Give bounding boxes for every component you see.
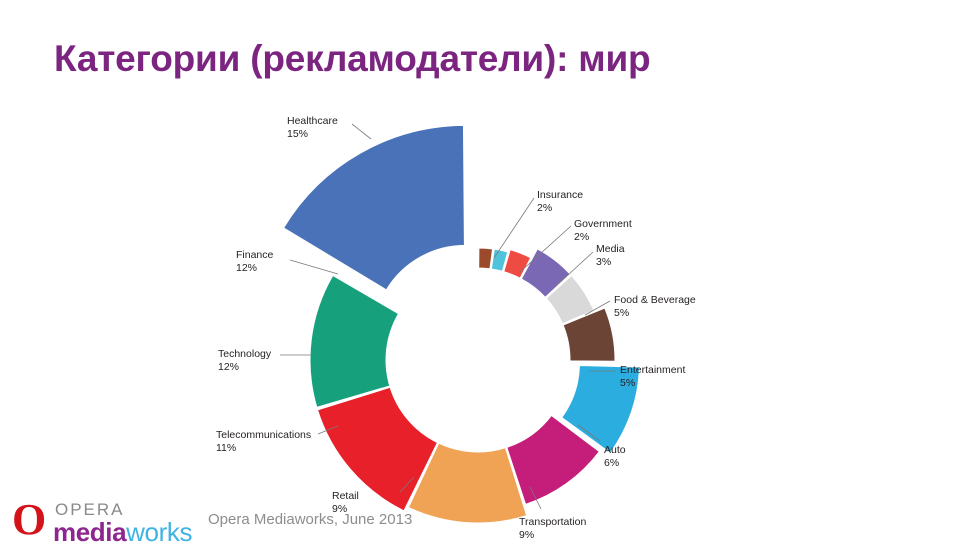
slice-label-name-entertainment: Entertainment xyxy=(620,364,685,376)
slice-label-media: Media3% xyxy=(596,243,625,268)
page-title: Категории (рекламодатели): мир xyxy=(54,38,650,80)
slice-label-value-healthcare: 15% xyxy=(287,128,338,141)
slice-label-entertainment: Entertainment5% xyxy=(620,364,685,389)
opera-mediaworks-logo: O OPERA mediaworks xyxy=(12,498,202,546)
slice-label-value-finance: 12% xyxy=(236,262,273,275)
slice-label-name-insurance: Insurance xyxy=(537,189,583,201)
slice-label-government: Government2% xyxy=(574,218,632,243)
radial-donut-chart: Healthcare15%Finance12%Technology12%Tele… xyxy=(0,95,978,550)
slice-label-name-transportation: Transportation xyxy=(519,516,586,528)
slice-label-value-government: 2% xyxy=(574,231,632,244)
chart-slices xyxy=(284,125,640,523)
logo-wordmark-media: media xyxy=(53,517,126,547)
slice-label-value-transportation: 9% xyxy=(519,529,586,542)
slice-label-insurance: Insurance2% xyxy=(537,189,583,214)
slice-label-value-technology: 12% xyxy=(218,361,271,374)
slice-label-value-auto: 6% xyxy=(604,457,626,470)
chart-slice-healthcare xyxy=(284,125,465,289)
slice-label-healthcare: Healthcare15% xyxy=(287,115,338,140)
slice-label-name-government: Government xyxy=(574,218,632,230)
logo-wordmark-mediaworks: mediaworks xyxy=(53,517,192,548)
slice-label-auto: Auto6% xyxy=(604,444,626,469)
slice-label-telecommunications: Telecommunications11% xyxy=(216,429,311,454)
leader-line-finance xyxy=(290,260,338,274)
slice-label-food-beverage: Food & Beverage5% xyxy=(614,294,696,319)
slice-label-value-entertainment: 5% xyxy=(620,377,685,390)
logo-wordmark-works: works xyxy=(126,517,192,547)
slice-label-name-telecommunications: Telecommunications xyxy=(216,429,311,441)
slice-label-transportation: Transportation9% xyxy=(519,516,586,541)
slice-label-value-telecommunications: 11% xyxy=(216,442,311,455)
slice-label-name-food-beverage: Food & Beverage xyxy=(614,294,696,306)
source-note: Opera Mediaworks, June 2013 xyxy=(208,511,412,528)
slice-label-value-media: 3% xyxy=(596,256,625,269)
slice-label-name-retail: Retail xyxy=(332,490,359,502)
slice-label-name-healthcare: Healthcare xyxy=(287,115,338,127)
slice-label-finance: Finance12% xyxy=(236,249,273,274)
donut-chart-svg xyxy=(0,95,978,550)
slice-label-name-finance: Finance xyxy=(236,249,273,261)
chart-slice-insurance xyxy=(479,248,493,269)
slice-label-value-insurance: 2% xyxy=(537,202,583,215)
slide-canvas: Категории (рекламодатели): мир Healthcar… xyxy=(0,0,978,549)
slice-label-name-media: Media xyxy=(596,243,625,255)
slice-label-name-technology: Technology xyxy=(218,348,271,360)
leader-line-healthcare xyxy=(352,124,371,139)
leader-line-insurance xyxy=(494,198,534,258)
slice-label-technology: Technology12% xyxy=(218,348,271,373)
opera-o-mark: O xyxy=(12,500,46,540)
slice-label-name-auto: Auto xyxy=(604,444,626,456)
slice-label-value-food-beverage: 5% xyxy=(614,307,696,320)
chart-slice-finance xyxy=(310,275,398,407)
